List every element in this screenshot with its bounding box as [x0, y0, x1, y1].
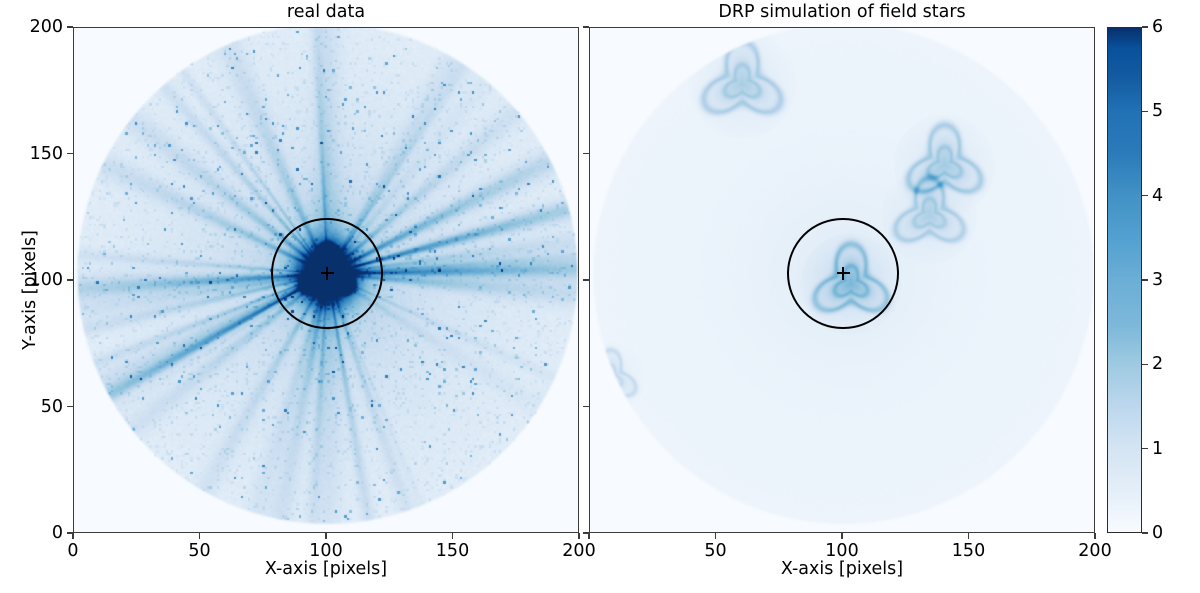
x-tick-left-150	[452, 533, 453, 539]
plot-panel-drp-simulation	[589, 27, 1095, 533]
x-tick-right-150	[968, 533, 969, 539]
y-tick-right-50	[583, 406, 589, 407]
colorbar-tick-1	[1142, 448, 1148, 449]
figure-canvas: real data DRP simulation of field stars …	[0, 0, 1200, 593]
y-axis-label-left: Y-axis [pixels]	[20, 180, 40, 400]
x-tick-label-right-200: 200	[1078, 542, 1111, 560]
y-tick-right-200	[583, 26, 589, 27]
colorbar-tick-label-0: 0	[1152, 524, 1163, 542]
colorbar-tick-3	[1142, 279, 1148, 280]
colorbar-tick-0	[1142, 532, 1148, 533]
x-tick-label-right-150: 150	[952, 542, 985, 560]
colorbar-tick-2	[1142, 364, 1148, 365]
colorbar-tick-label-3: 3	[1152, 271, 1163, 289]
x-tick-right-50	[715, 533, 716, 539]
x-tick-label-left-50: 50	[188, 542, 210, 560]
x-tick-right-100	[841, 533, 842, 539]
colorbar-tick-label-4: 4	[1152, 187, 1163, 205]
y-tick-label-left-50: 50	[15, 398, 63, 416]
y-tick-label-left-150: 150	[15, 145, 63, 163]
y-tick-left-100	[67, 279, 73, 280]
x-tick-label-left-0: 0	[67, 542, 78, 560]
x-tick-label-left-100: 100	[309, 542, 342, 560]
colorbar-tick-6	[1142, 26, 1148, 27]
x-tick-right-200	[1094, 533, 1095, 539]
colorbar-tick-label-2: 2	[1152, 355, 1163, 373]
y-tick-right-0	[583, 532, 589, 533]
x-tick-label-left-150: 150	[436, 542, 469, 560]
y-tick-right-150	[583, 153, 589, 154]
x-tick-label-left-200: 200	[562, 542, 595, 560]
x-tick-label-right-50: 50	[704, 542, 726, 560]
y-tick-label-left-0: 0	[15, 524, 63, 542]
source-center-cross-right	[837, 267, 850, 280]
colorbar-tick-label-6: 6	[1152, 18, 1163, 36]
x-axis-label-right: X-axis [pixels]	[589, 559, 1095, 579]
y-tick-left-0	[67, 532, 73, 533]
y-tick-left-50	[67, 406, 73, 407]
x-tick-label-right-100: 100	[825, 542, 858, 560]
colorbar-tick-label-1: 1	[1152, 440, 1163, 458]
colorbar-tick-5	[1142, 111, 1148, 112]
panel-title-right: DRP simulation of field stars	[589, 2, 1095, 22]
y-tick-right-100	[583, 279, 589, 280]
source-center-cross-left	[321, 267, 334, 280]
plot-panel-real-data	[73, 27, 579, 533]
x-tick-left-50	[199, 533, 200, 539]
x-tick-left-0	[72, 533, 73, 539]
colorbar	[1107, 27, 1142, 533]
y-tick-left-150	[67, 153, 73, 154]
x-axis-label-left: X-axis [pixels]	[73, 559, 579, 579]
y-tick-left-200	[67, 26, 73, 27]
x-tick-left-100	[325, 533, 326, 539]
x-tick-right-0	[588, 533, 589, 539]
x-tick-left-200	[578, 533, 579, 539]
colorbar-tick-4	[1142, 195, 1148, 196]
y-tick-label-left-200: 200	[15, 18, 63, 36]
panel-title-left: real data	[73, 2, 579, 22]
colorbar-tick-label-5: 5	[1152, 102, 1163, 120]
